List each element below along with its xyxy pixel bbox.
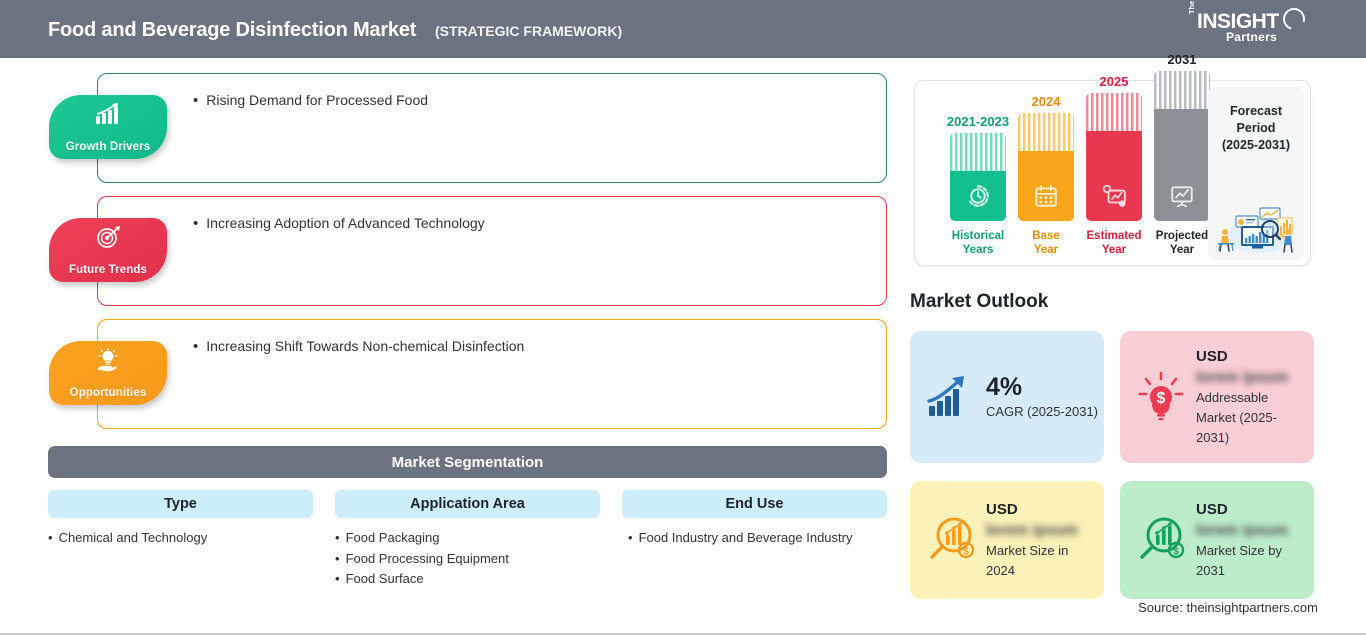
lightbulb-dollar-icon: $ bbox=[1134, 370, 1188, 424]
bar-caption-line2: Year bbox=[1032, 243, 1060, 257]
bar-solid-segment bbox=[1086, 131, 1142, 221]
list-item: Food Industry and Beverage Industry bbox=[628, 528, 887, 549]
outlook-card-addressable-market[interactable]: $ USD lorem ipsum Addressable Market (20… bbox=[1120, 331, 1314, 463]
segmentation-column-label[interactable]: Type bbox=[48, 490, 313, 518]
outlook-card-body: USD lorem ipsum Market Size by 2031 bbox=[1196, 500, 1314, 581]
segmentation-column-end-use: End Use Food Industry and Beverage Indus… bbox=[622, 490, 887, 549]
segmentation-column-label[interactable]: Application Area bbox=[335, 490, 600, 518]
outlook-card-body: USD lorem ipsum Addressable Market (2025… bbox=[1196, 347, 1314, 448]
source-attribution: Source: theinsightpartners.com bbox=[1138, 600, 1318, 615]
blurred-value: lorem ipsum bbox=[1196, 520, 1304, 541]
bar-caption: Projected Year bbox=[1156, 229, 1208, 257]
segmentation-item-list: Food Packaging Food Processing Equipment… bbox=[335, 528, 600, 590]
bar-year-label: 2021-2023 bbox=[947, 114, 1009, 129]
segmentation-column-application-area: Application Area Food Packaging Food Pro… bbox=[335, 490, 600, 590]
forecast-line3: (2025-2031) bbox=[1208, 137, 1304, 154]
segmentation-column-type: Type Chemical and Technology bbox=[48, 490, 313, 549]
bar-solid-segment bbox=[1018, 151, 1074, 221]
logo-the-text: The bbox=[1188, 1, 1195, 14]
market-segmentation-title: Market Segmentation bbox=[392, 454, 544, 471]
badge-label: Growth Drivers bbox=[66, 141, 150, 153]
framework-row-future-trends: Increasing Adoption of Advanced Technolo… bbox=[97, 196, 887, 306]
magnifier-bar-chart-green-icon: $ bbox=[1134, 513, 1188, 567]
target-dartboard-icon bbox=[94, 225, 122, 249]
card-label-line2: Market (2025- bbox=[1196, 408, 1304, 428]
bar-stripe-segment bbox=[1018, 113, 1074, 151]
bar-caption: Historical Years bbox=[952, 229, 1004, 257]
segmentation-label-text: End Use bbox=[725, 496, 783, 512]
segmentation-item-list: Food Industry and Beverage Industry bbox=[628, 528, 887, 549]
svg-text:$: $ bbox=[1157, 390, 1166, 407]
bar-year-label: 2031 bbox=[1168, 52, 1197, 67]
currency-label: USD bbox=[1196, 500, 1304, 520]
badge-label: Future Trends bbox=[69, 264, 147, 276]
bar-year-label: 2025 bbox=[1100, 74, 1129, 89]
card-label-line3: 2031) bbox=[1196, 428, 1304, 448]
page-header: Food and Beverage Disinfection Market (S… bbox=[0, 0, 1366, 58]
bar-caption: Estimated Year bbox=[1087, 229, 1142, 257]
bar-caption-line1: Estimated bbox=[1087, 229, 1142, 243]
framework-bullet: Rising Demand for Processed Food bbox=[193, 92, 428, 109]
card-label-line2: 2024 bbox=[986, 561, 1094, 581]
framework-bullet: Increasing Shift Towards Non-chemical Di… bbox=[193, 338, 524, 355]
bar-shape bbox=[950, 133, 1006, 221]
growth-bar-arrow-icon bbox=[924, 370, 978, 424]
logo-swoosh-icon bbox=[1279, 4, 1309, 34]
blurred-value: lorem ipsum bbox=[1196, 367, 1304, 388]
bar-chart-growth-icon bbox=[94, 102, 122, 126]
bar-shape bbox=[1086, 93, 1142, 221]
badge-opportunities[interactable]: Opportunities bbox=[49, 341, 167, 405]
forecast-period-panel: Forecast Period (2025-2031) bbox=[1208, 87, 1304, 260]
forecast-line1: Forecast bbox=[1208, 103, 1304, 120]
card-label-line2: 2031 bbox=[1196, 561, 1304, 581]
forecast-line2: Period bbox=[1208, 120, 1304, 137]
outlook-card-cagr[interactable]: 4% CAGR (2025-2031) bbox=[910, 331, 1104, 463]
cagr-label: CAGR (2025-2031) bbox=[986, 402, 1098, 422]
bar-caption-line2: Year bbox=[1156, 243, 1208, 257]
presentation-chart-icon bbox=[1169, 183, 1195, 209]
hand-lightbulb-icon bbox=[94, 348, 122, 372]
bar-stripe-segment bbox=[950, 133, 1006, 171]
framework-row-opportunities: Increasing Shift Towards Non-chemical Di… bbox=[97, 319, 887, 429]
badge-future-trends[interactable]: Future Trends bbox=[49, 218, 167, 282]
bar-shape bbox=[1018, 113, 1074, 221]
segmentation-column-label[interactable]: End Use bbox=[622, 490, 887, 518]
page-subtitle: (STRATEGIC FRAMEWORK) bbox=[435, 23, 622, 39]
svg-text:$: $ bbox=[963, 547, 969, 558]
blurred-value: lorem ipsum bbox=[986, 520, 1094, 541]
bar-caption-line2: Years bbox=[952, 243, 1004, 257]
insight-partners-logo: The INSIGHT Partners bbox=[1188, 8, 1308, 50]
list-item: Chemical and Technology bbox=[48, 528, 313, 549]
data-analysis-illustration bbox=[1212, 196, 1300, 254]
logo-partners-text: Partners bbox=[1226, 30, 1277, 44]
bar-solid-segment bbox=[950, 171, 1006, 221]
segmentation-label-text: Application Area bbox=[410, 496, 525, 512]
analytics-gear-icon bbox=[1101, 183, 1127, 209]
outlook-card-market-size-2031[interactable]: $ USD lorem ipsum Market Size by 2031 bbox=[1120, 481, 1314, 599]
outlook-card-market-size-2024[interactable]: $ USD lorem ipsum Market Size in 2024 bbox=[910, 481, 1104, 599]
framework-bullet: Increasing Adoption of Advanced Technolo… bbox=[193, 215, 485, 232]
person-left bbox=[1220, 229, 1229, 251]
segmentation-item-list: Chemical and Technology bbox=[48, 528, 313, 549]
currency-label: USD bbox=[986, 500, 1094, 520]
bar-caption-line1: Historical bbox=[952, 229, 1004, 243]
market-segmentation-header: Market Segmentation bbox=[48, 446, 887, 478]
bar-caption: Base Year bbox=[1032, 229, 1060, 257]
bar-shape bbox=[1154, 71, 1210, 221]
bar-solid-segment bbox=[1154, 109, 1210, 221]
forecast-period-text: Forecast Period (2025-2031) bbox=[1208, 103, 1304, 154]
magnifier-bar-chart-orange-icon: $ bbox=[924, 513, 978, 567]
bar-caption-line1: Base bbox=[1032, 229, 1060, 243]
calendar-icon bbox=[1033, 183, 1059, 209]
market-timeline-chart: 2021-2023 Historical Years 2024 bbox=[914, 80, 1311, 266]
infographic-page: Food and Beverage Disinfection Market (S… bbox=[0, 0, 1366, 635]
outlook-card-body: USD lorem ipsum Market Size in 2024 bbox=[986, 500, 1104, 581]
bar-caption-line1: Projected bbox=[1156, 229, 1208, 243]
segmentation-label-text: Type bbox=[164, 496, 197, 512]
list-item: Food Processing Equipment bbox=[335, 549, 600, 570]
bar-stripe-segment bbox=[1154, 71, 1210, 109]
bar-stripe-segment bbox=[1086, 93, 1142, 131]
outlook-card-body: 4% CAGR (2025-2031) bbox=[986, 372, 1108, 422]
market-outlook-title: Market Outlook bbox=[910, 291, 1048, 313]
list-item: Food Surface bbox=[335, 569, 600, 590]
badge-growth-drivers[interactable]: Growth Drivers bbox=[49, 95, 167, 159]
page-title: Food and Beverage Disinfection Market bbox=[48, 19, 416, 42]
svg-text:$: $ bbox=[1173, 547, 1179, 558]
bar-year-label: 2024 bbox=[1032, 94, 1061, 109]
badge-label: Opportunities bbox=[70, 387, 147, 399]
framework-row-growth-drivers: Rising Demand for Processed Food bbox=[97, 73, 887, 183]
card-label-line1: Addressable bbox=[1196, 388, 1304, 408]
card-label-line1: Market Size in bbox=[986, 541, 1094, 561]
bar-caption-line2: Year bbox=[1087, 243, 1142, 257]
card-label-line1: Market Size by bbox=[1196, 541, 1304, 561]
currency-label: USD bbox=[1196, 347, 1304, 367]
clock-history-icon bbox=[965, 183, 991, 209]
list-item: Food Packaging bbox=[335, 528, 600, 549]
cagr-value: 4% bbox=[986, 372, 1098, 402]
